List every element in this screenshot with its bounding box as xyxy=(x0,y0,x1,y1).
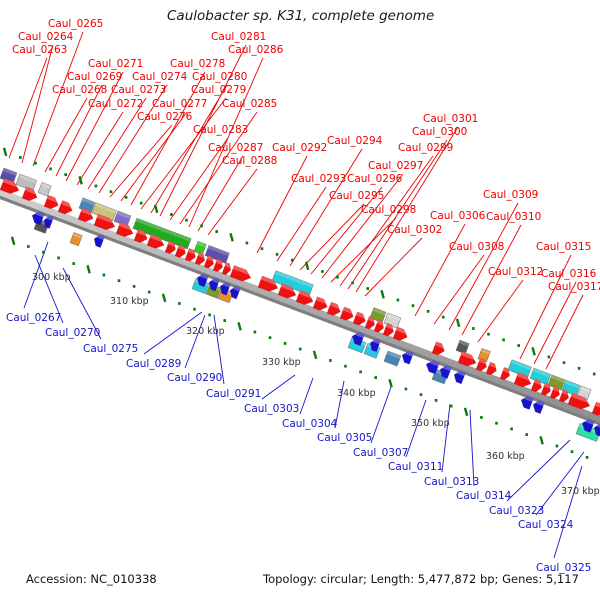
minor-tick-mark xyxy=(261,247,264,250)
minor-tick-mark xyxy=(42,251,45,254)
gene-label-caul_0303[interactable]: Caul_0303 xyxy=(244,403,299,415)
reverse-strand-genes[interactable] xyxy=(30,210,600,437)
minor-tick-mark xyxy=(442,316,445,319)
gene-label-caul_0324[interactable]: Caul_0324 xyxy=(518,519,573,531)
minor-tick-mark xyxy=(450,405,453,408)
gene-label-caul_0302[interactable]: Caul_0302 xyxy=(387,224,442,236)
gene-label-caul_0314[interactable]: Caul_0314 xyxy=(456,490,511,502)
minor-tick-mark xyxy=(366,287,369,290)
gene-label-caul_0264[interactable]: Caul_0264 xyxy=(18,31,73,43)
minor-tick-mark xyxy=(299,348,302,351)
minor-tick-mark xyxy=(200,224,203,227)
major-tick-mark xyxy=(4,148,6,156)
genome-map-viewer: Caulobacter sp. K31, complete genome Cau… xyxy=(0,0,600,600)
minor-tick-mark xyxy=(148,291,151,294)
cog-box[interactable] xyxy=(38,182,51,196)
gene-label-caul_0299[interactable]: Caul_0299 xyxy=(398,142,453,154)
gene-label-caul_0301[interactable]: Caul_0301 xyxy=(423,113,478,125)
minor-tick-mark xyxy=(517,344,520,347)
leader-line xyxy=(478,280,523,342)
leader-line xyxy=(45,98,87,172)
minor-tick-mark xyxy=(246,242,249,245)
minor-tick-mark xyxy=(284,342,287,345)
leader-line xyxy=(277,187,326,261)
leader-line xyxy=(262,375,295,399)
gene-label-caul_0267[interactable]: Caul_0267 xyxy=(6,312,61,324)
major-tick-mark xyxy=(88,265,90,273)
minor-tick-mark xyxy=(64,173,67,176)
minor-tick-mark xyxy=(344,365,347,368)
gene-label-caul_0298[interactable]: Caul_0298 xyxy=(361,204,416,216)
minor-tick-mark xyxy=(223,319,226,322)
gene-label-caul_0268[interactable]: Caul_0268 xyxy=(52,84,107,96)
minor-tick-mark xyxy=(110,190,113,193)
gene-label-caul_0273[interactable]: Caul_0273 xyxy=(111,84,166,96)
genome-backbone[interactable] xyxy=(0,190,600,423)
gene-label-caul_0283[interactable]: Caul_0283 xyxy=(193,124,248,136)
gene-label-caul_0286[interactable]: Caul_0286 xyxy=(228,44,283,56)
minor-tick-mark xyxy=(351,281,354,284)
gene-label-caul_0274[interactable]: Caul_0274 xyxy=(132,71,187,83)
tick-label-2: 320 kbp xyxy=(186,326,225,337)
minor-tick-mark xyxy=(34,162,37,165)
cog-box[interactable] xyxy=(70,232,82,245)
minor-tick-mark xyxy=(125,196,128,199)
minor-tick-mark xyxy=(472,327,475,330)
major-tick-mark xyxy=(155,205,157,213)
minor-tick-mark xyxy=(133,285,136,288)
leader-line xyxy=(415,224,465,316)
minor-tick-mark xyxy=(586,456,589,459)
gene-label-caul_0278[interactable]: Caul_0278 xyxy=(170,58,225,70)
gene-label-caul_0263[interactable]: Caul_0263 xyxy=(12,44,67,56)
gene-label-caul_0309[interactable]: Caul_0309 xyxy=(483,189,538,201)
tick-label-0: 300 kbp xyxy=(32,272,71,283)
leader-line xyxy=(257,156,307,253)
major-tick-mark xyxy=(457,319,459,327)
gene-label-caul_0269[interactable]: Caul_0269 xyxy=(67,71,122,83)
major-tick-mark xyxy=(533,347,535,355)
major-tick-mark xyxy=(163,294,165,302)
leader-line xyxy=(22,45,53,163)
gene-label-caul_0275[interactable]: Caul_0275 xyxy=(83,343,138,355)
minor-tick-mark xyxy=(269,336,272,339)
minor-tick-mark xyxy=(495,422,498,425)
minor-tick-mark xyxy=(72,262,75,265)
minor-tick-mark xyxy=(593,373,596,376)
gene-label-caul_0287[interactable]: Caul_0287 xyxy=(208,142,263,154)
minor-tick-mark xyxy=(563,361,566,364)
leader-line xyxy=(121,112,187,201)
minor-tick-mark xyxy=(502,338,505,341)
minor-tick-mark xyxy=(215,230,218,233)
leader-line xyxy=(198,156,243,231)
major-tick-mark xyxy=(12,237,14,245)
gene-label-caul_0271[interactable]: Caul_0271 xyxy=(88,58,143,70)
minor-tick-mark xyxy=(57,256,60,259)
minor-tick-mark xyxy=(103,274,106,277)
gene-label-caul_0308[interactable]: Caul_0308 xyxy=(449,241,504,253)
major-tick-mark xyxy=(306,262,308,270)
gene-label-caul_0279[interactable]: Caul_0279 xyxy=(191,84,246,96)
minor-tick-mark xyxy=(95,185,98,188)
gene-label-caul_0291[interactable]: Caul_0291 xyxy=(206,388,261,400)
gene-label-caul_0277[interactable]: Caul_0277 xyxy=(152,98,207,110)
minor-tick-mark xyxy=(374,376,377,379)
minor-tick-mark xyxy=(27,245,30,248)
page-title: Caulobacter sp. K31, complete genome xyxy=(167,8,434,24)
gene-label-caul_0280[interactable]: Caul_0280 xyxy=(192,71,247,83)
leader-line xyxy=(365,238,422,296)
cog-box[interactable] xyxy=(384,351,401,366)
minor-tick-mark xyxy=(178,302,181,305)
gene-label-caul_0270[interactable]: Caul_0270 xyxy=(45,327,100,339)
minor-tick-mark xyxy=(185,219,188,222)
leader-line xyxy=(300,378,313,414)
minor-tick-mark xyxy=(405,388,408,391)
gene-label-caul_0276[interactable]: Caul_0276 xyxy=(137,111,192,123)
major-tick-mark xyxy=(465,408,467,416)
tick-label-4: 340 kbp xyxy=(337,388,376,399)
gene-label-caul_0305[interactable]: Caul_0305 xyxy=(317,432,372,444)
gene-label-caul_0306[interactable]: Caul_0306 xyxy=(430,210,485,222)
tick-label-5: 350 kbp xyxy=(411,418,450,429)
minor-tick-mark xyxy=(329,359,332,362)
backbone-line xyxy=(0,190,600,421)
leader-line xyxy=(546,295,583,369)
gene-label-caul_0315[interactable]: Caul_0315 xyxy=(536,241,591,253)
minor-tick-mark xyxy=(525,433,528,436)
gene-label-caul_0304[interactable]: Caul_0304 xyxy=(282,418,337,430)
gene-label-caul_0292[interactable]: Caul_0292 xyxy=(272,142,327,154)
minor-tick-mark xyxy=(170,213,173,216)
gene-label-caul_0295[interactable]: Caul_0295 xyxy=(329,190,384,202)
major-tick-mark xyxy=(390,379,392,387)
gene-label-caul_0297[interactable]: Caul_0297 xyxy=(368,160,423,172)
tick-label-7: 370 kbp xyxy=(561,486,600,497)
gene-label-caul_0300[interactable]: Caul_0300 xyxy=(412,126,467,138)
minor-tick-mark xyxy=(578,367,581,370)
tick-label-3: 330 kbp xyxy=(262,357,301,368)
minor-tick-mark xyxy=(427,310,430,313)
gene-label-caul_0317[interactable]: Caul_0317 xyxy=(548,281,600,293)
minor-tick-mark xyxy=(118,279,121,282)
minor-tick-mark xyxy=(208,313,211,316)
minor-tick-mark xyxy=(49,167,52,170)
accession-text: Accession: NC_010338 xyxy=(26,572,157,586)
gene-label-caul_0313[interactable]: Caul_0313 xyxy=(424,476,479,488)
minor-tick-mark xyxy=(556,445,559,448)
minor-tick-mark xyxy=(276,253,279,256)
gene-label-caul_0316[interactable]: Caul_0316 xyxy=(541,268,596,280)
minor-tick-mark xyxy=(480,416,483,419)
minor-tick-mark xyxy=(19,156,22,159)
leader-line xyxy=(77,112,123,185)
gene-label-caul_0281[interactable]: Caul_0281 xyxy=(211,31,266,43)
gene-label-caul_0293[interactable]: Caul_0293 xyxy=(291,173,346,185)
leader-line xyxy=(185,315,205,368)
gene-label-caul_0311[interactable]: Caul_0311 xyxy=(388,461,443,473)
gene-label-caul_0289[interactable]: Caul_0289 xyxy=(126,358,181,370)
leader-line xyxy=(290,149,362,266)
minor-tick-mark xyxy=(193,308,196,311)
gene-label-caul_0296[interactable]: Caul_0296 xyxy=(347,173,402,185)
minor-tick-mark xyxy=(359,370,362,373)
gene-label-caul_0323[interactable]: Caul_0323 xyxy=(489,505,544,517)
minor-tick-mark xyxy=(420,393,423,396)
tick-label-1: 310 kbp xyxy=(110,296,149,307)
gene-label-caul_0294[interactable]: Caul_0294 xyxy=(327,135,382,147)
minor-tick-mark xyxy=(291,259,294,262)
leader-line xyxy=(554,466,582,558)
gene-label-caul_0312[interactable]: Caul_0312 xyxy=(488,266,543,278)
minor-tick-mark xyxy=(321,270,324,273)
gene-label-caul_0285[interactable]: Caul_0285 xyxy=(222,98,277,110)
major-tick-mark xyxy=(541,436,543,444)
major-tick-mark xyxy=(231,233,233,241)
gene-label-caul_0310[interactable]: Caul_0310 xyxy=(486,211,541,223)
major-tick-mark xyxy=(382,290,384,298)
gene-label-caul_0307[interactable]: Caul_0307 xyxy=(353,447,408,459)
tick-label-6: 360 kbp xyxy=(486,451,525,462)
minor-tick-mark xyxy=(336,276,339,279)
minor-tick-mark xyxy=(412,304,415,307)
minor-tick-mark xyxy=(510,427,513,430)
minor-tick-mark xyxy=(435,399,438,402)
gene-label-caul_0265[interactable]: Caul_0265 xyxy=(48,18,103,30)
minor-tick-mark xyxy=(397,299,400,302)
minor-tick-mark xyxy=(254,331,257,334)
minor-tick-mark xyxy=(140,202,143,205)
genome-summary-text: Topology: circular; Length: 5,477,872 bp… xyxy=(263,572,579,586)
major-tick-mark xyxy=(314,351,316,359)
minor-tick-mark xyxy=(548,356,551,359)
leader-line xyxy=(470,410,474,486)
minor-tick-mark xyxy=(487,333,490,336)
major-tick-mark xyxy=(239,322,241,330)
gene-label-caul_0290[interactable]: Caul_0290 xyxy=(167,372,222,384)
gene-label-caul_0288[interactable]: Caul_0288 xyxy=(222,155,277,167)
minor-tick-mark xyxy=(571,450,574,453)
leader-line xyxy=(434,255,484,324)
gene-label-caul_0272[interactable]: Caul_0272 xyxy=(88,98,143,110)
